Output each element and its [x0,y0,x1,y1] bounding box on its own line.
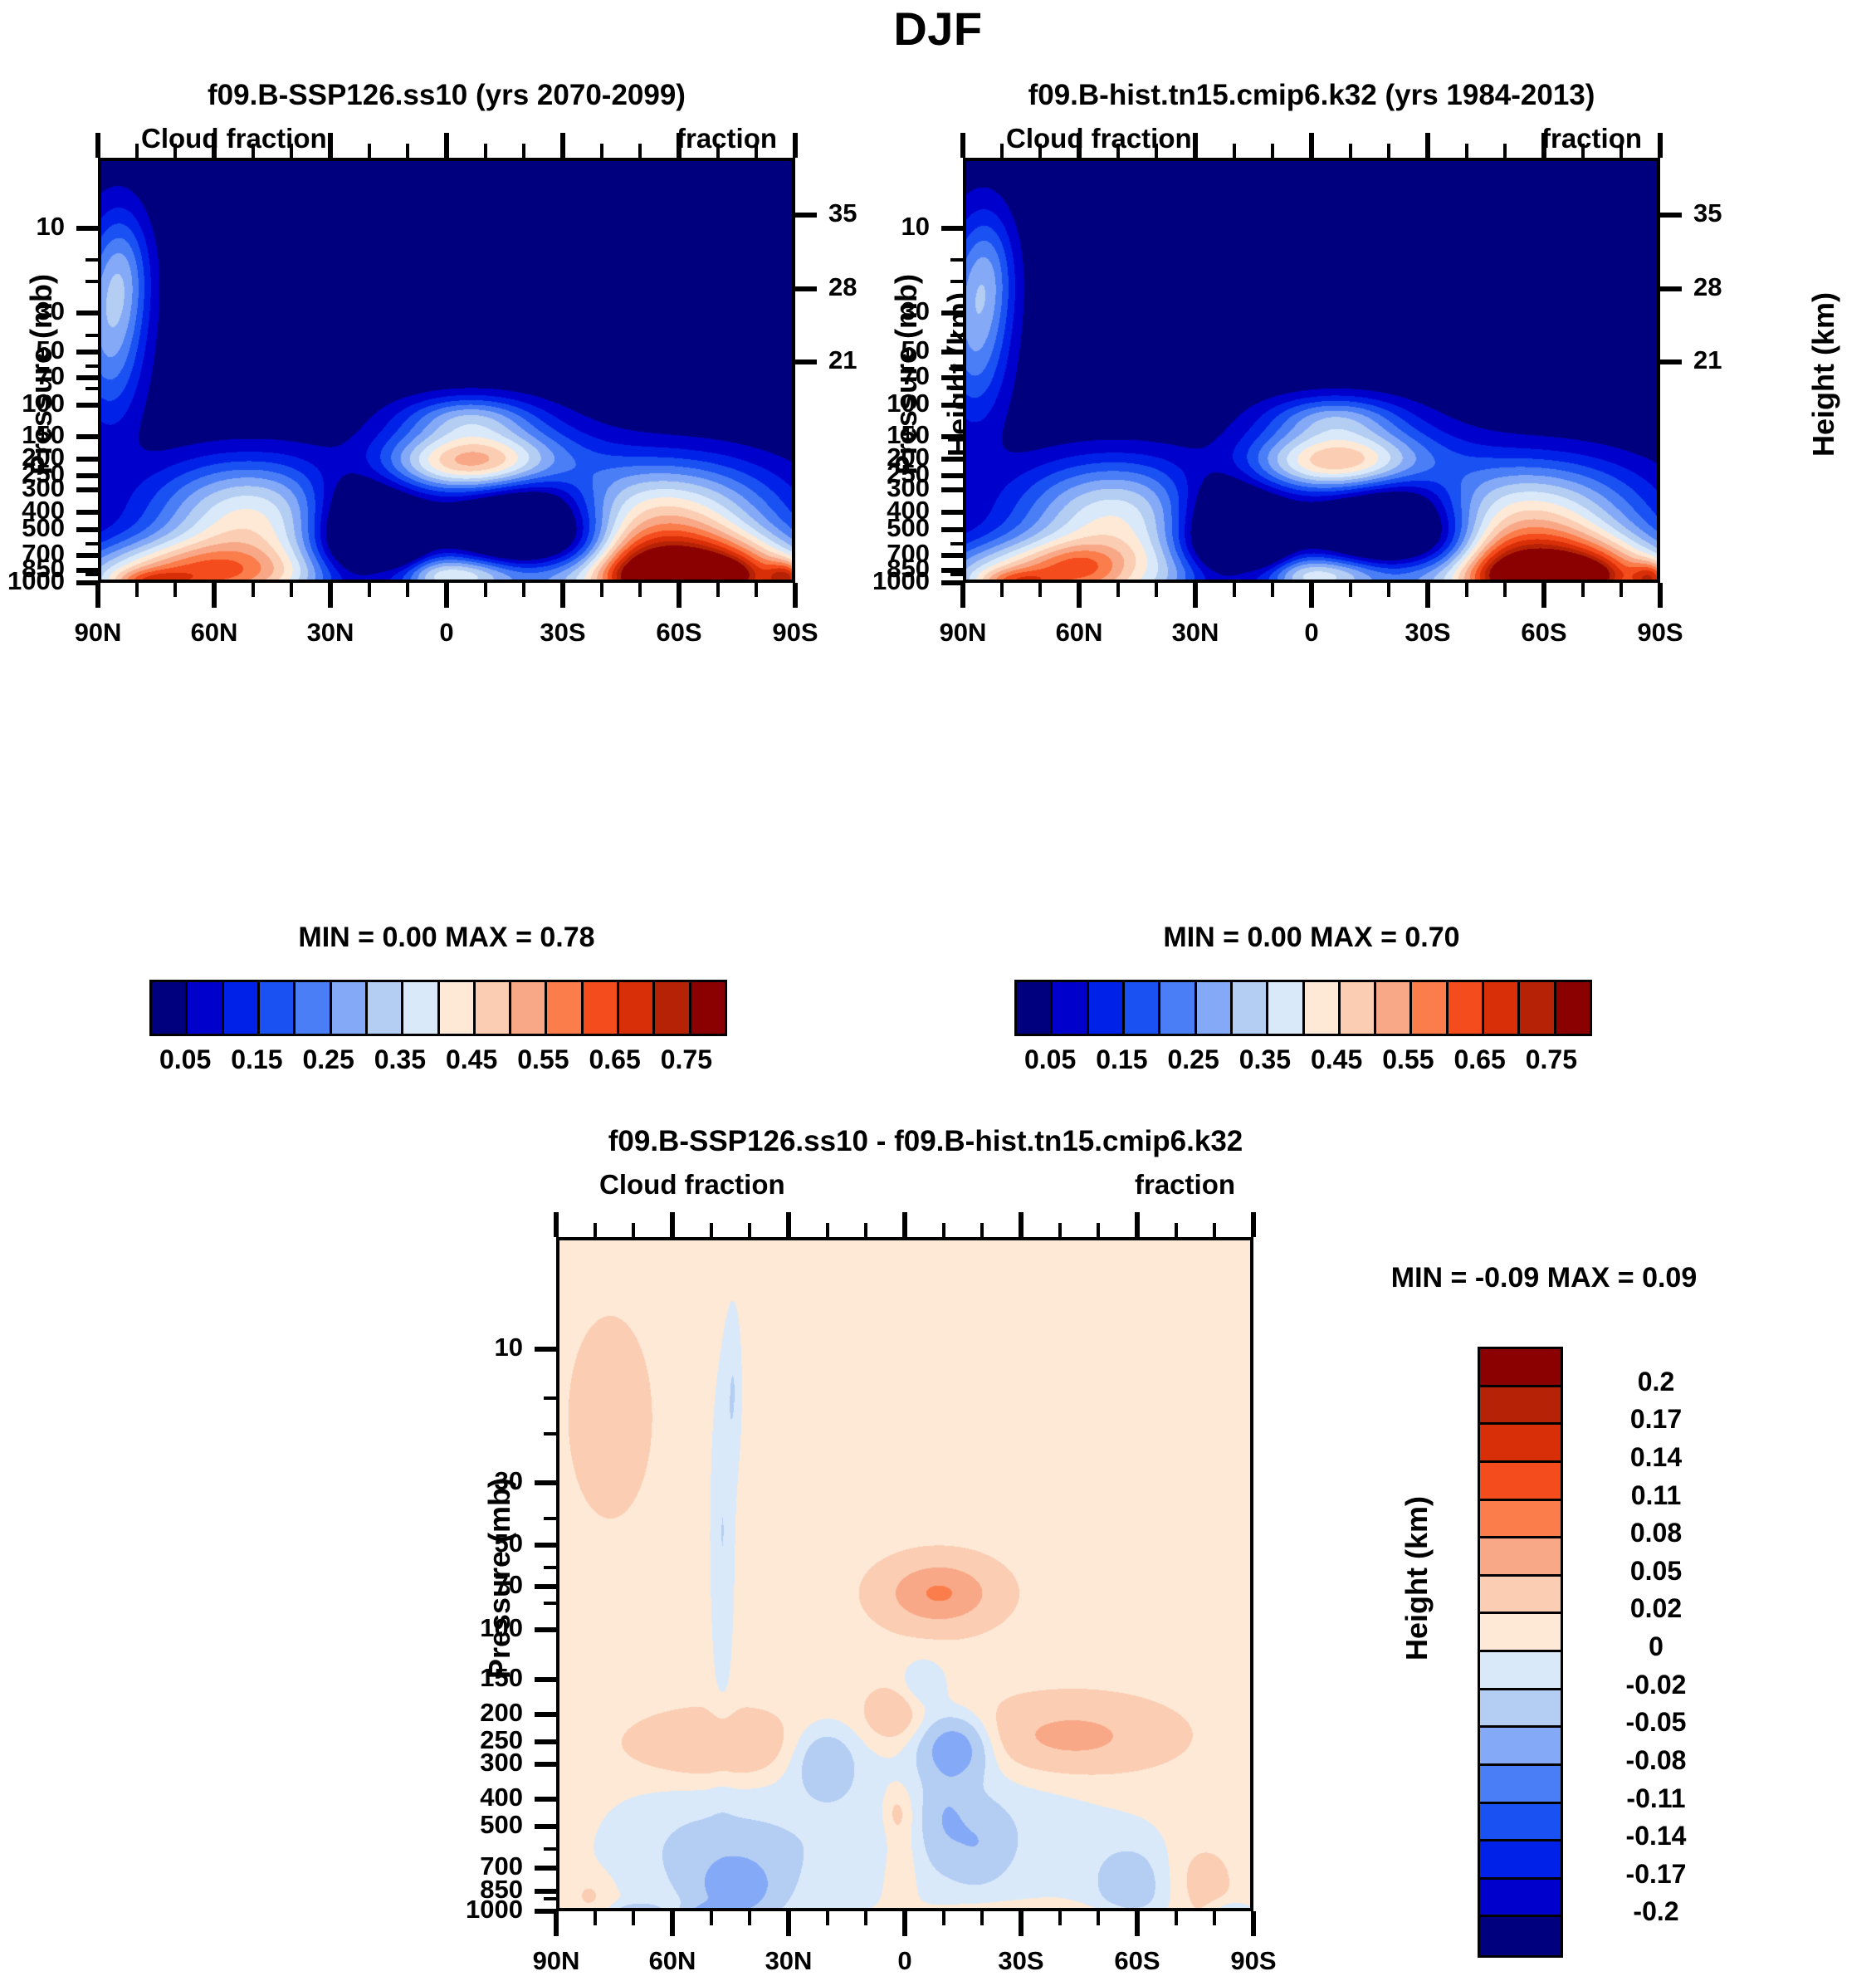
pressure-tick-case-30 [76,311,98,315]
lat-top-minor-tick-control--10 [1349,144,1352,158]
colorbar-control-swatch-0 [1017,982,1053,1034]
lat-top-tick-difference-90S [1251,1212,1256,1237]
pressure-tick-difference-100 [535,1627,556,1632]
lat-label-difference-90S: 90S [1179,1946,1328,1976]
pressure-tick-control-30 [941,311,963,315]
lat-tick-case-0 [444,583,449,608]
pressure-minor-tick-control-20 [950,280,963,283]
colorbar-difference-swatch-14 [1480,1880,1561,1918]
pressure-tick-control-850 [941,568,963,573]
pressure-tick-case-50 [76,350,98,355]
pressure-label-difference-100: 100 [407,1613,523,1643]
pressure-tick-control-250 [941,473,963,478]
pressure-tick-difference-10 [535,1347,556,1352]
colorbar-control-swatch-5 [1197,982,1233,1034]
lat-top-tick-case-90N [95,133,100,158]
lat-minor-tick-case--80 [755,583,758,597]
lat-top-minor-tick-control-80 [1000,144,1004,158]
colorbar-control-swatch-11 [1412,982,1448,1034]
colorbar-difference-label-11: -0.11 [1573,1783,1739,1814]
lat-top-tick-case-60N [212,133,217,158]
panel-difference-unit-label: fraction [1135,1169,1235,1201]
colorbar-case-swatch-6 [368,982,403,1034]
colorbar-case-swatch-13 [619,982,655,1034]
pressure-tick-case-700 [76,553,98,558]
height-tick-case-28 [795,286,817,291]
colorbar-control-swatch-15 [1556,982,1590,1034]
lat-top-minor-tick-control--20 [1387,144,1390,158]
colorbar-control-swatch-13 [1484,982,1520,1034]
pressure-tick-difference-50 [535,1543,556,1548]
colorbar-control-label-0.75: 0.75 [1477,1044,1626,1075]
colorbar-difference-label-6: 0.02 [1573,1593,1739,1624]
lat-minor-tick-difference--20 [980,1911,984,1925]
lat-top-minor-tick-difference--80 [1213,1223,1216,1237]
lat-minor-tick-control-70 [1038,583,1042,597]
height-label-control-35: 35 [1693,198,1793,228]
lat-top-minor-tick-difference-50 [710,1223,713,1237]
pressure-label-control-30: 30 [813,296,930,326]
pressure-tick-case-200 [76,457,98,462]
lat-minor-tick-case-10 [406,583,409,597]
lat-minor-tick-difference--70 [1175,1911,1178,1925]
lat-top-minor-tick-difference-70 [632,1223,635,1237]
lat-top-minor-tick-control-10 [1271,144,1274,158]
lat-tick-difference-90S [1251,1911,1256,1936]
pressure-label-case-70: 70 [0,361,65,391]
pressure-tick-difference-400 [535,1797,556,1802]
pressure-label-difference-300: 300 [407,1748,523,1778]
panel-control-colorbar[interactable] [1014,980,1592,1036]
lat-minor-tick-case--40 [600,583,603,597]
pressure-label-control-10: 10 [813,212,930,242]
pressure-tick-difference-200 [535,1712,556,1717]
panel-difference-colorbar[interactable] [1478,1347,1563,1958]
pressure-tick-case-400 [76,510,98,515]
colorbar-case-label-0.75: 0.75 [612,1044,761,1075]
lat-minor-tick-difference-50 [710,1911,713,1925]
colorbar-case-swatch-8 [440,982,476,1034]
lat-minor-tick-control-50 [1116,583,1120,597]
pressure-label-difference-150: 150 [407,1663,523,1693]
colorbar-difference-swatch-1 [1480,1387,1561,1426]
colorbar-difference-swatch-12 [1480,1804,1561,1842]
colorbar-control-swatch-2 [1089,982,1125,1034]
lat-top-tick-case-60S [677,133,682,158]
panel-control-right-axis-title: Height (km) [1806,250,1841,499]
lat-minor-tick-case-70 [173,583,177,597]
lat-top-tick-case-30N [328,133,333,158]
lat-minor-tick-difference-40 [748,1911,751,1925]
lat-minor-tick-difference-10 [864,1911,867,1925]
lat-top-minor-tick-case--80 [755,144,758,158]
lat-top-minor-tick-control--80 [1620,144,1623,158]
lat-top-minor-tick-case-50 [252,144,255,158]
pressure-minor-tick-control-40 [950,334,963,337]
pressure-minor-tick-control-900 [950,573,963,576]
panel-difference-minmax: MIN = -0.09 MAX = 0.09 [1328,1262,1760,1294]
lat-top-tick-case-0 [444,133,449,158]
lat-top-tick-difference-60N [670,1212,675,1237]
pressure-minor-tick-control-60 [950,364,963,368]
colorbar-control-swatch-4 [1160,982,1196,1034]
panel-case-colorbar[interactable] [149,980,727,1036]
colorbar-case-swatch-0 [152,982,188,1034]
lat-label-case-90S: 90S [721,618,870,648]
lat-top-minor-tick-case-80 [135,144,139,158]
colorbar-case-swatch-5 [332,982,368,1034]
lat-top-tick-control-60N [1077,133,1082,158]
lat-top-tick-difference-90N [554,1212,559,1237]
pressure-label-difference-30: 30 [407,1466,523,1496]
pressure-tick-control-300 [941,487,963,492]
pressure-minor-tick-difference-900 [544,1897,556,1900]
lat-top-minor-tick-difference-80 [594,1223,597,1237]
lat-tick-difference-30S [1019,1911,1023,1936]
lat-minor-tick-control--50 [1503,583,1507,597]
pressure-tick-difference-700 [535,1866,556,1871]
pressure-minor-tick-case-20 [85,280,98,283]
lat-top-minor-tick-difference-40 [748,1223,751,1237]
lat-minor-tick-difference--40 [1058,1911,1062,1925]
lat-top-tick-control-90N [960,133,965,158]
pressure-minor-tick-case-40 [85,334,98,337]
pressure-tick-difference-70 [535,1584,556,1589]
pressure-tick-control-100 [941,403,963,408]
lat-top-minor-tick-case--10 [484,144,487,158]
height-tick-control-28 [1660,286,1682,291]
lat-minor-tick-case-20 [368,583,371,597]
lat-top-minor-tick-difference-10 [864,1223,867,1237]
lat-minor-tick-difference--50 [1097,1911,1100,1925]
colorbar-difference-label-13: -0.17 [1573,1859,1739,1890]
colorbar-control-swatch-1 [1053,982,1088,1034]
panel-difference-contour-field [559,1240,1253,1911]
colorbar-difference-label-8: -0.02 [1573,1670,1739,1700]
pressure-minor-tick-case-15 [85,258,98,262]
colorbar-difference-swatch-7 [1480,1614,1561,1652]
pressure-label-case-30: 30 [0,296,65,326]
pressure-tick-case-150 [76,434,98,439]
lat-top-minor-tick-case-70 [173,144,177,158]
pressure-tick-difference-850 [535,1889,556,1894]
pressure-tick-difference-150 [535,1677,556,1682]
panel-difference-title: f09.B-SSP126.ss10 - f09.B-hist.tn15.cmip… [473,1125,1378,1158]
colorbar-difference-swatch-11 [1480,1766,1561,1804]
lat-tick-difference-30N [786,1911,791,1936]
colorbar-difference-label-5: 0.05 [1573,1556,1739,1587]
lat-minor-tick-difference-70 [632,1911,635,1925]
colorbar-control-swatch-14 [1520,982,1556,1034]
colorbar-case-swatch-10 [511,982,547,1034]
colorbar-case-swatch-11 [547,982,583,1034]
lat-minor-tick-case--70 [716,583,720,597]
pressure-minor-tick-difference-600 [544,1847,556,1851]
panel-case-minmax: MIN = 0.00 MAX = 0.78 [98,922,795,954]
lat-top-minor-tick-case--70 [716,144,720,158]
pressure-label-case-100: 100 [0,389,65,418]
panel-case-contour-field [101,161,795,583]
panel-control-title: f09.B-hist.tn15.cmip6.k32 (yrs 1984-2013… [963,79,1660,112]
lat-minor-tick-control--70 [1581,583,1585,597]
lat-top-minor-tick-case--50 [638,144,642,158]
lat-minor-tick-control--10 [1349,583,1352,597]
colorbar-control-swatch-6 [1233,982,1268,1034]
lat-tick-control-30N [1193,583,1198,608]
pressure-minor-tick-case-900 [85,573,98,576]
colorbar-difference-swatch-6 [1480,1577,1561,1615]
pressure-label-case-1000: 1000 [0,566,65,596]
panel-difference-plot-area[interactable] [556,1237,1253,1911]
pressure-tick-difference-300 [535,1762,556,1767]
lat-tick-case-90N [95,583,100,608]
lat-top-minor-tick-case--40 [600,144,603,158]
colorbar-control-swatch-8 [1305,982,1341,1034]
lat-top-tick-difference-30S [1019,1212,1023,1237]
lat-minor-tick-case-40 [290,583,293,597]
colorbar-case-swatch-2 [224,982,260,1034]
lat-top-minor-tick-control-20 [1233,144,1236,158]
lat-tick-control-90N [960,583,965,608]
lat-top-minor-tick-control--50 [1503,144,1507,158]
colorbar-case-swatch-14 [655,982,691,1034]
colorbar-difference-swatch-4 [1480,1501,1561,1539]
lat-tick-case-60S [677,583,682,608]
lat-top-tick-difference-30N [786,1212,791,1237]
lat-minor-tick-control--80 [1620,583,1623,597]
lat-minor-tick-case--10 [484,583,487,597]
lat-minor-tick-control-20 [1233,583,1236,597]
lat-minor-tick-case--50 [638,583,642,597]
lat-tick-control-60N [1077,583,1082,608]
colorbar-difference-swatch-3 [1480,1463,1561,1501]
lat-top-tick-control-30N [1193,133,1198,158]
colorbar-control-swatch-3 [1125,982,1160,1034]
lat-tick-difference-90N [554,1911,559,1936]
lat-tick-difference-60N [670,1911,675,1936]
pressure-label-control-100: 100 [813,389,930,418]
pressure-label-difference-200: 200 [407,1698,523,1728]
lat-top-tick-case-90S [793,133,798,158]
colorbar-difference-swatch-5 [1480,1538,1561,1577]
lat-top-minor-tick-control--40 [1465,144,1468,158]
lat-top-tick-control-60S [1541,133,1546,158]
pressure-minor-tick-case-60 [85,364,98,368]
lat-tick-difference-60S [1135,1911,1140,1936]
lat-top-minor-tick-control-50 [1116,144,1120,158]
colorbar-case-swatch-1 [188,982,223,1034]
colorbar-control-swatch-12 [1449,982,1484,1034]
pressure-minor-tick-difference-80 [544,1602,556,1605]
pressure-label-control-1000: 1000 [813,566,930,596]
colorbar-case-swatch-7 [403,982,439,1034]
lat-top-tick-difference-0 [902,1212,907,1237]
pressure-label-difference-70: 70 [407,1570,523,1600]
panel-control-plot-area[interactable] [963,158,1660,583]
colorbar-difference-swatch-8 [1480,1652,1561,1690]
pressure-label-difference-50: 50 [407,1528,523,1558]
lat-top-tick-control-0 [1309,133,1314,158]
pressure-tick-control-500 [941,527,963,532]
panel-case-title: f09.B-SSP126.ss10 (yrs 2070-2099) [98,79,795,112]
pressure-minor-tick-difference-60 [544,1566,556,1569]
colorbar-case-swatch-4 [296,982,331,1034]
pressure-tick-case-850 [76,568,98,573]
pressure-tick-case-10 [76,226,98,231]
panel-control-minmax: MIN = 0.00 MAX = 0.70 [963,922,1660,954]
pressure-tick-control-200 [941,457,963,462]
lat-top-tick-difference-60S [1135,1212,1140,1237]
panel-difference-right-axis-title: Height (km) [1400,1454,1434,1703]
lat-top-minor-tick-control--70 [1581,144,1585,158]
lat-top-tick-control-90S [1658,133,1663,158]
lat-minor-tick-difference--80 [1213,1911,1216,1925]
lat-top-minor-tick-difference--20 [980,1223,984,1237]
lat-top-minor-tick-difference-20 [826,1223,829,1237]
pressure-label-difference-10: 10 [407,1333,523,1362]
pressure-tick-control-70 [941,375,963,380]
lat-minor-tick-control--40 [1465,583,1468,597]
panel-control-unit-label: fraction [1541,123,1642,154]
colorbar-control-swatch-10 [1376,982,1412,1034]
height-label-control-21: 21 [1693,345,1793,375]
colorbar-difference-swatch-10 [1480,1728,1561,1766]
colorbar-difference-swatch-13 [1480,1841,1561,1880]
colorbar-difference-label-3: 0.11 [1573,1480,1739,1511]
pressure-label-case-10: 10 [0,212,65,242]
pressure-tick-control-400 [941,510,963,515]
colorbar-difference-swatch-9 [1480,1690,1561,1729]
pressure-minor-tick-case-600 [85,542,98,545]
pressure-minor-tick-difference-40 [544,1517,556,1520]
pressure-label-difference-1000: 1000 [407,1895,523,1925]
pressure-tick-case-300 [76,487,98,492]
lat-tick-control-60S [1541,583,1546,608]
lat-minor-tick-case--20 [522,583,525,597]
pressure-tick-control-50 [941,350,963,355]
panel-control-var-label: Cloud fraction [1006,123,1192,154]
lat-minor-tick-difference-80 [594,1911,597,1925]
pressure-minor-tick-difference-20 [544,1432,556,1436]
lat-minor-tick-control--20 [1387,583,1390,597]
colorbar-difference-label-7: 0 [1573,1631,1739,1662]
lat-tick-case-30N [328,583,333,608]
colorbar-difference-label-9: -0.05 [1573,1707,1739,1738]
panel-case-var-label: Cloud fraction [141,123,327,154]
pressure-tick-difference-500 [535,1824,556,1829]
pressure-tick-case-250 [76,473,98,478]
pressure-minor-tick-control-80 [950,387,963,390]
colorbar-case-swatch-15 [691,982,725,1034]
figure-root: DJF f09.B-SSP126.ss10 (yrs 2070-2099) Cl… [0,0,1876,1966]
lat-minor-tick-difference-20 [826,1911,829,1925]
lat-top-minor-tick-difference--10 [942,1223,945,1237]
lat-tick-difference-0 [902,1911,907,1936]
colorbar-control-swatch-9 [1341,982,1376,1034]
lat-minor-tick-difference--10 [942,1911,945,1925]
lat-minor-tick-control-10 [1271,583,1274,597]
lat-top-minor-tick-control-70 [1038,144,1042,158]
figure-suptitle: DJF [0,2,1876,56]
pressure-tick-case-100 [76,403,98,408]
lat-top-tick-control-30S [1425,133,1430,158]
pressure-tick-case-70 [76,375,98,380]
pressure-label-difference-400: 400 [407,1783,523,1812]
pressure-tick-difference-30 [535,1480,556,1485]
lat-top-minor-tick-difference--50 [1097,1223,1100,1237]
colorbar-difference-label-12: -0.14 [1573,1821,1739,1851]
lat-minor-tick-control-40 [1155,583,1158,597]
pressure-minor-tick-control-15 [950,258,963,262]
lat-tick-case-90S [793,583,798,608]
lat-minor-tick-case-50 [252,583,255,597]
height-tick-control-21 [1660,359,1682,364]
colorbar-control-swatch-7 [1268,982,1304,1034]
lat-top-minor-tick-control-40 [1155,144,1158,158]
pressure-tick-difference-250 [535,1739,556,1744]
colorbar-difference-label-0: 0.2 [1573,1367,1739,1397]
colorbar-difference-label-14: -0.2 [1573,1896,1739,1927]
pressure-tick-control-10 [941,226,963,231]
lat-tick-case-60N [212,583,217,608]
pressure-label-difference-500: 500 [407,1810,523,1840]
pressure-tick-control-150 [941,434,963,439]
colorbar-difference-label-4: 0.08 [1573,1518,1739,1548]
colorbar-difference-label-1: 0.17 [1573,1404,1739,1435]
lat-top-tick-case-30S [560,133,565,158]
pressure-minor-tick-case-80 [85,387,98,390]
lat-tick-case-30S [560,583,565,608]
lat-label-control-90S: 90S [1585,618,1735,648]
lat-top-minor-tick-difference--70 [1175,1223,1178,1237]
lat-top-minor-tick-case--20 [522,144,525,158]
panel-difference-var-label: Cloud fraction [599,1169,785,1201]
pressure-label-control-70: 70 [813,361,930,391]
panel-case-unit-label: fraction [677,123,777,154]
height-tick-control-35 [1660,213,1682,218]
lat-minor-tick-case-80 [135,583,139,597]
height-label-control-28: 28 [1693,272,1793,302]
pressure-tick-control-700 [941,553,963,558]
lat-top-minor-tick-difference--40 [1058,1223,1062,1237]
pressure-minor-tick-control-600 [950,542,963,545]
lat-top-minor-tick-case-40 [290,144,293,158]
lat-tick-control-30S [1425,583,1430,608]
colorbar-case-swatch-12 [584,982,619,1034]
lat-minor-tick-control-80 [1000,583,1004,597]
colorbar-case-swatch-3 [260,982,296,1034]
colorbar-difference-swatch-15 [1480,1917,1561,1955]
colorbar-difference-swatch-2 [1480,1425,1561,1463]
lat-tick-control-90S [1658,583,1663,608]
colorbar-case-swatch-9 [476,982,511,1034]
panel-control-contour-field [966,161,1660,583]
colorbar-difference-label-2: 0.14 [1573,1442,1739,1473]
panel-case-plot-area[interactable] [98,158,795,583]
colorbar-difference-swatch-0 [1480,1349,1561,1387]
pressure-tick-case-500 [76,527,98,532]
lat-tick-control-0 [1309,583,1314,608]
lat-top-minor-tick-case-10 [406,144,409,158]
colorbar-difference-label-10: -0.08 [1573,1745,1739,1776]
lat-top-minor-tick-case-20 [368,144,371,158]
pressure-minor-tick-difference-15 [544,1396,556,1400]
